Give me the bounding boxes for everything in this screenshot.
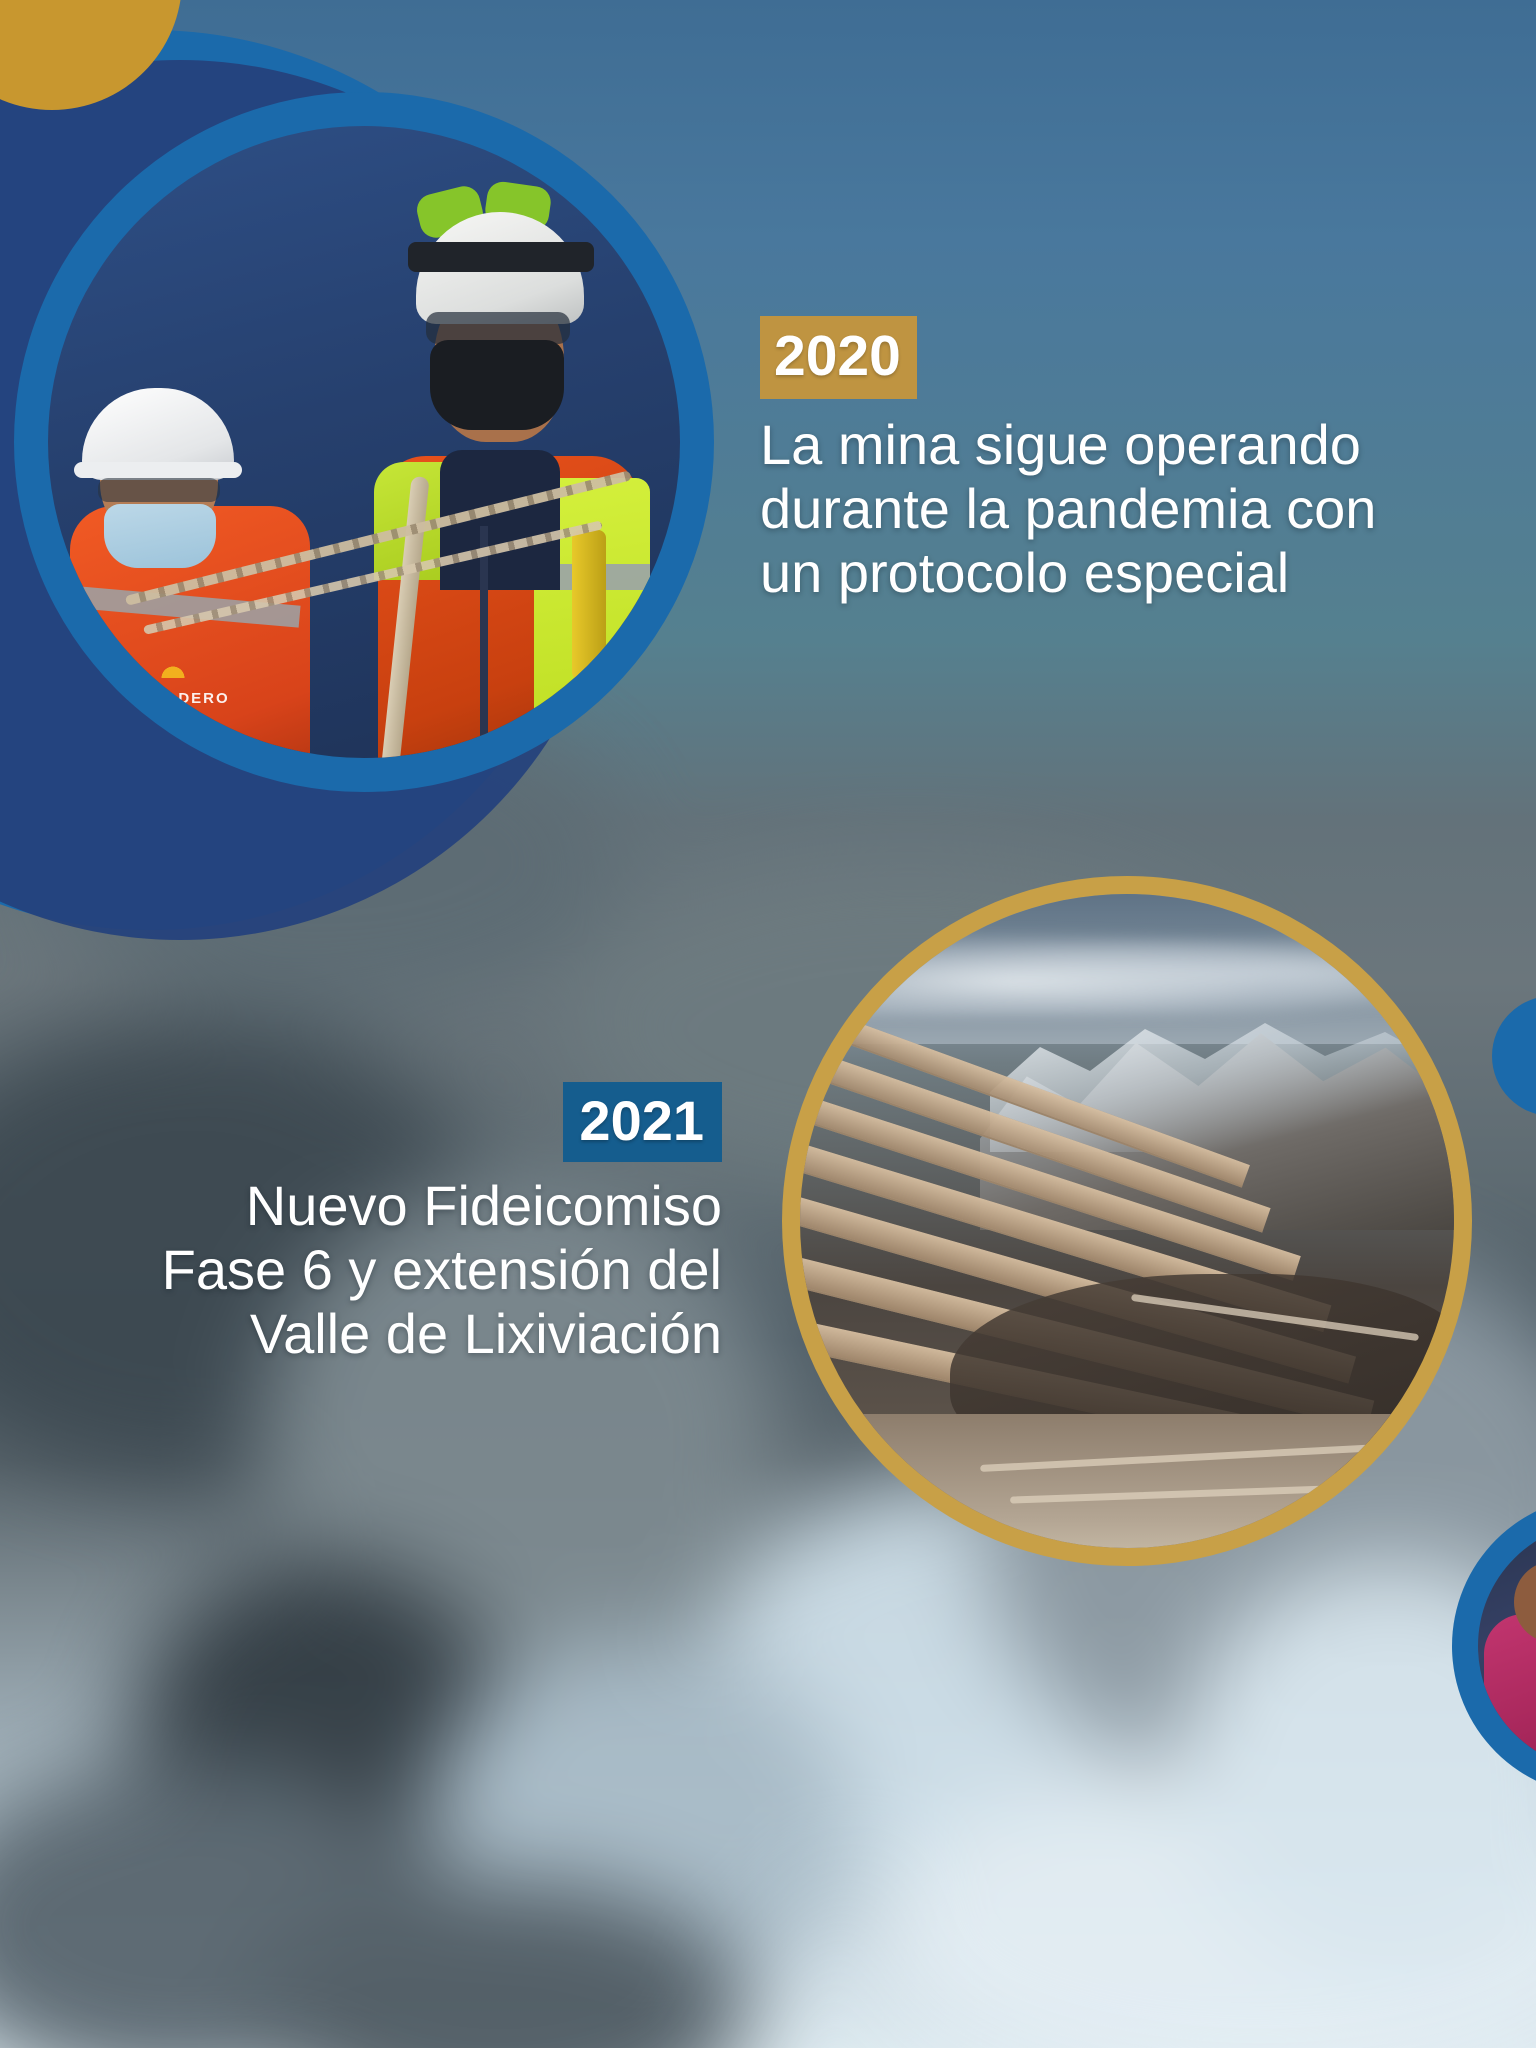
infographic-page: VELADERO 2020 La mina sigue operando dur…	[0, 0, 1536, 2048]
timeline-entry-2020: 2020 La mina sigue operando durante la p…	[760, 316, 1520, 604]
photo-2021-open-pit-mine	[800, 894, 1454, 1548]
headline-2021-line-3: Valle de Lixiviación	[250, 1302, 722, 1365]
timeline-entry-2021: 2021 Nuevo Fideicomiso Fase 6 y extensió…	[0, 1082, 722, 1365]
cloud-icon	[840, 930, 1420, 1016]
edge-circle-bottom-photo	[1478, 1522, 1536, 1770]
photo-ring-2020: VELADERO	[14, 92, 714, 792]
headline-2020-line-1: La mina sigue operando	[760, 413, 1361, 476]
headline-2020-line-2: durante la pandemia con	[760, 477, 1376, 540]
safety-glasses-icon	[98, 478, 220, 502]
year-badge-2021: 2021	[563, 1082, 722, 1162]
surgical-mask-icon	[104, 504, 216, 568]
headline-2020: La mina sigue operando durante la pandem…	[760, 413, 1520, 604]
headline-2021-line-1: Nuevo Fideicomiso	[246, 1174, 722, 1237]
photo-2020-workers: VELADERO	[48, 126, 680, 758]
pit-floor	[860, 1414, 1454, 1548]
headline-2021-line-2: Fase 6 y extensión del	[162, 1238, 722, 1301]
photo-ring-2021	[782, 876, 1472, 1566]
black-face-mask-icon	[430, 340, 564, 430]
year-badge-2020: 2020	[760, 316, 917, 399]
headline-2021: Nuevo Fideicomiso Fase 6 y extensión del…	[0, 1174, 722, 1365]
headline-2020-line-3: un protocolo especial	[760, 541, 1289, 604]
veladero-brand-label: VELADERO	[120, 686, 240, 712]
